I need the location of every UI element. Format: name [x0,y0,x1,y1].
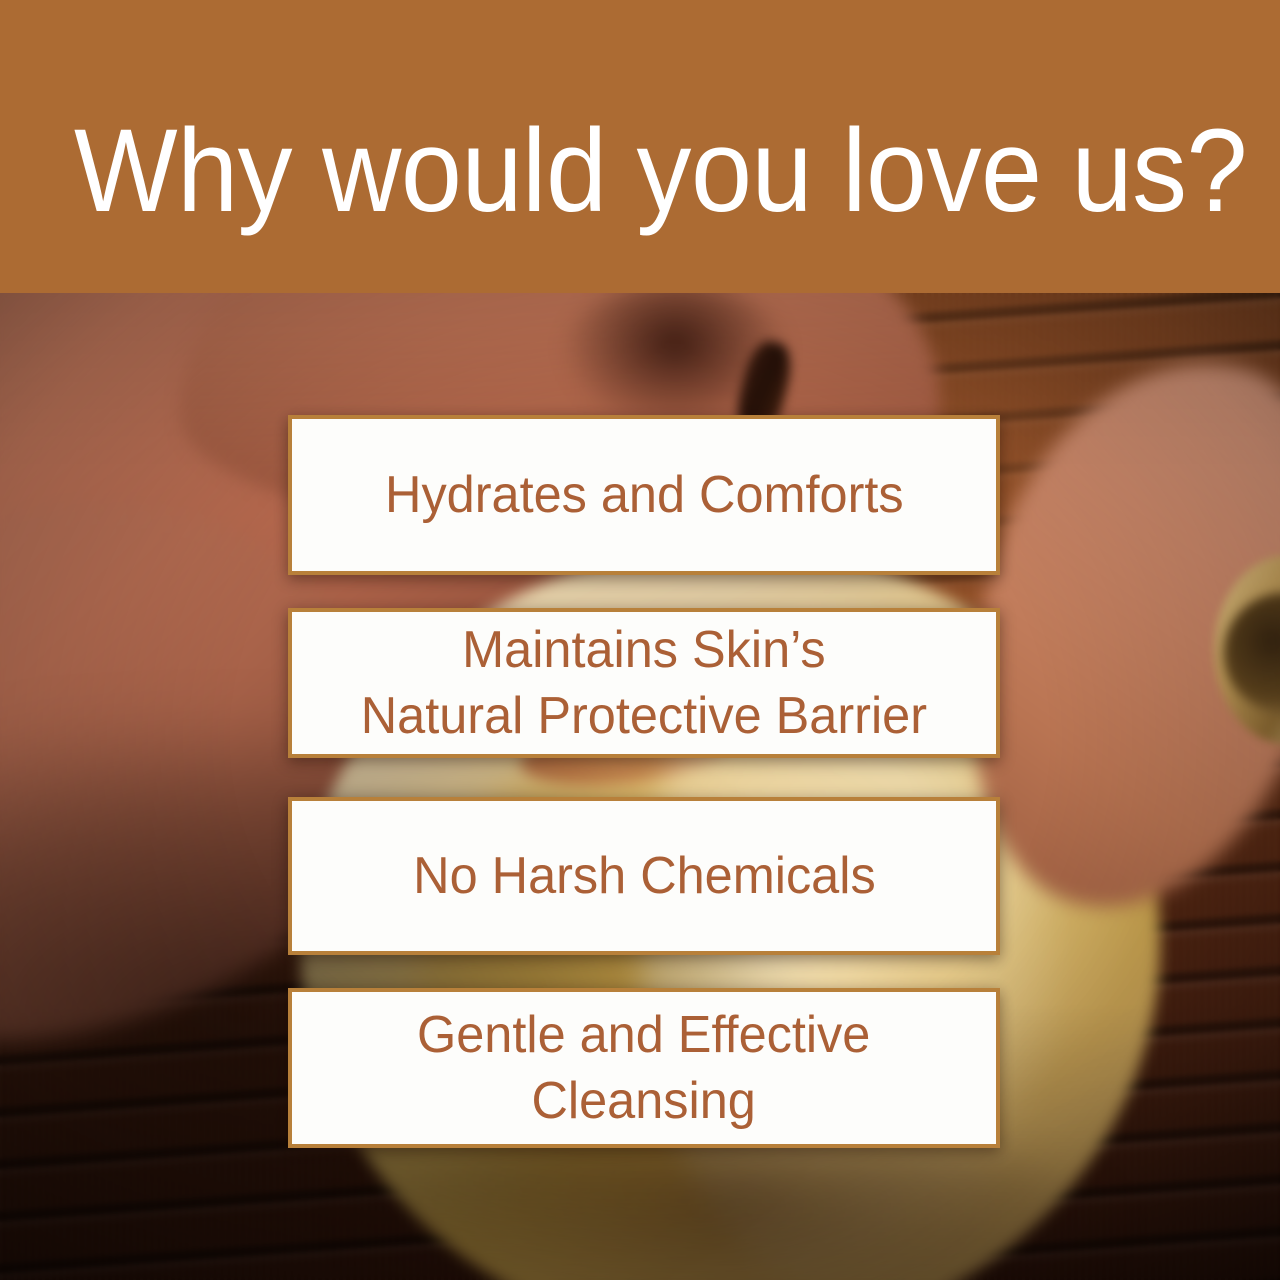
benefit-line: Natural Protective Barrier [361,687,927,745]
benefit-line: Hydrates and Comforts [385,466,904,524]
benefit-card-text: Maintains Skin’s Natural Protective Barr… [343,617,944,749]
benefit-line: No Harsh Chemicals [413,847,876,905]
benefit-line: Maintains Skin’s [462,621,826,679]
benefit-card-maintains-skins-natural-protective-barrier[interactable]: Maintains Skin’s Natural Protective Barr… [288,608,1000,758]
page-title: Why would you love us? [74,108,1134,234]
benefit-card-hydrates-and-comforts[interactable]: Hydrates and Comforts [288,415,1000,575]
benefit-card-text: No Harsh Chemicals [395,843,892,909]
benefit-line: Gentle and Effective [417,1006,870,1064]
benefits-poster: Why would you love us? Hydrates and Comf… [0,0,1280,1280]
benefit-card-text: Gentle and Effective Cleansing [400,1002,888,1134]
benefit-card-gentle-and-effective-cleansing[interactable]: Gentle and Effective Cleansing [288,988,1000,1148]
benefit-card-text: Hydrates and Comforts [367,462,921,528]
header-band: Why would you love us? [0,0,1280,293]
benefit-line: Cleansing [532,1072,756,1130]
benefit-card-no-harsh-chemicals[interactable]: No Harsh Chemicals [288,797,1000,955]
